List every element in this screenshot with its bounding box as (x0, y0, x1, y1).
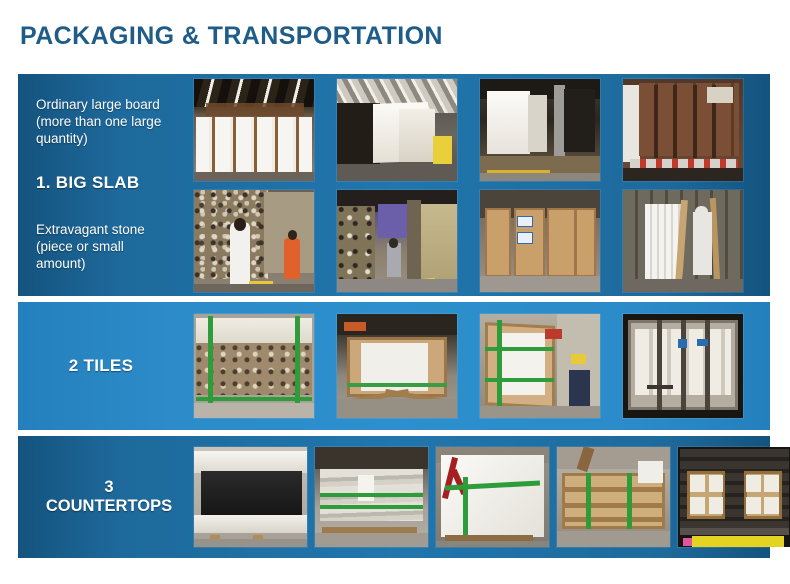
band-countertops-labels: 3 COUNTERTOPS (18, 436, 176, 558)
photo-container-rear-doors (623, 79, 743, 181)
photo-wooden-crates-labeled (480, 190, 600, 292)
page-title: PACKAGING & TRANSPORTATION (20, 22, 443, 51)
big-slab-row-2 (176, 185, 770, 296)
photo-tile-bundle-green-straps (194, 314, 314, 418)
photo-pallet-crated-tiles (337, 314, 457, 418)
photo-workers-inspecting-granite-slab (194, 190, 314, 292)
photo-white-wrapped-bundle (436, 447, 549, 547)
photo-wooden-crated-countertops (557, 447, 670, 547)
photo-crate-loading-worker (480, 314, 600, 418)
band-tiles: 2 TILES (18, 302, 770, 430)
photo-slab-bundles-aisle (337, 190, 457, 292)
photo-slabs-loading-truck (337, 79, 457, 181)
photo-black-countertop-white-base (194, 447, 307, 547)
photo-warehouse-wrapped-slab-rolls (194, 79, 314, 181)
packaging-panel: Ordinary large board (more than one larg… (18, 74, 770, 558)
band-countertops-photos (176, 436, 770, 558)
band-big-slab-photos (176, 74, 770, 296)
caption-extravagant-stone: Extravagant stone (piece or small amount… (36, 221, 176, 272)
band-tiles-photos (176, 302, 770, 430)
photo-grey-countertops-bundled (315, 447, 428, 547)
photo-worker-loading-container (623, 190, 743, 292)
heading-tiles: 2 TILES (36, 356, 176, 376)
caption-ordinary-large-board: Ordinary large board (more than one larg… (36, 96, 176, 147)
photo-container-loaded-tiles (623, 314, 743, 418)
photo-slabs-inside-container (480, 79, 600, 181)
countertops-row-1 (176, 436, 770, 558)
heading-countertops: 3 COUNTERTOPS (36, 478, 176, 516)
photo-container-loaded-pallets (678, 447, 790, 547)
band-big-slab-labels: Ordinary large board (more than one larg… (18, 74, 176, 296)
band-tiles-labels: 2 TILES (18, 302, 176, 430)
band-big-slab: Ordinary large board (more than one larg… (18, 74, 770, 296)
big-slab-row-1 (176, 74, 770, 185)
tiles-row-1 (176, 302, 770, 430)
heading-big-slab: 1. BIG SLAB (36, 173, 176, 193)
band-countertops: 3 COUNTERTOPS (18, 436, 770, 558)
